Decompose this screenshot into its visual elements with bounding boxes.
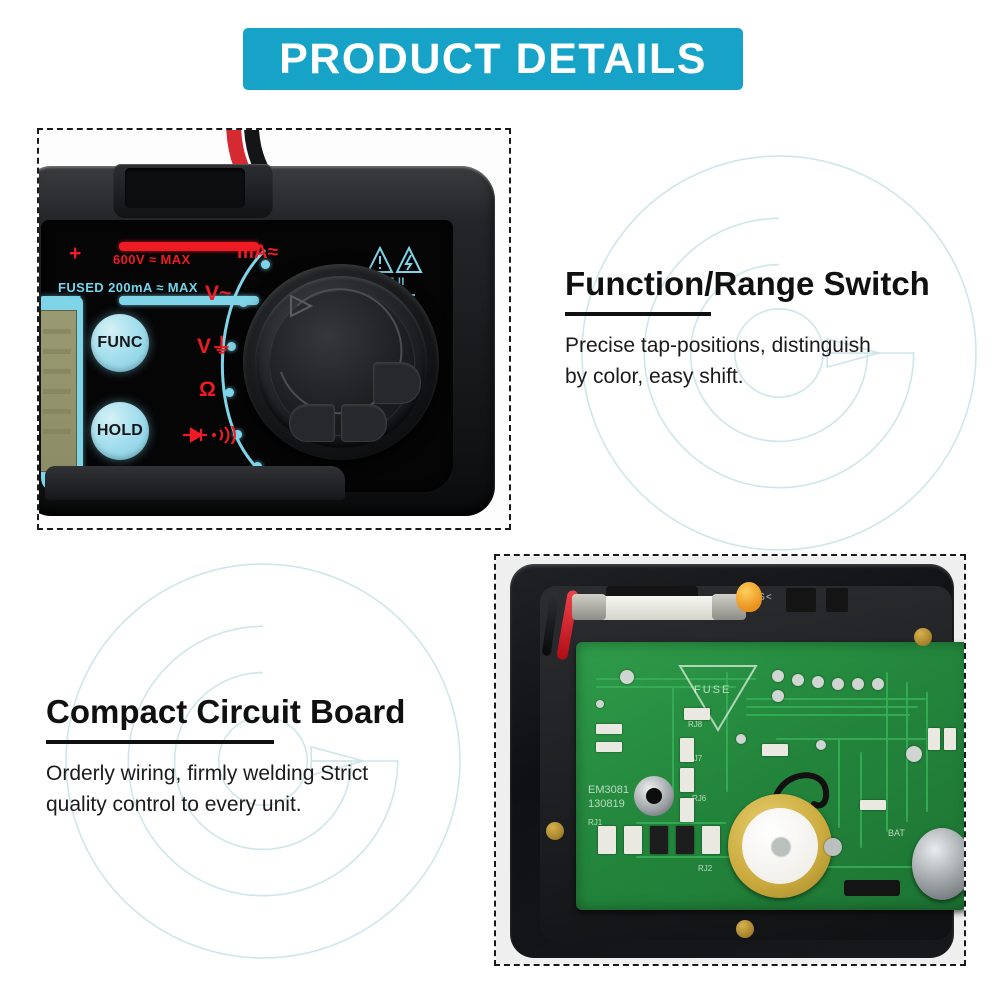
multimeter-photo-frame: + − 600V ≈ MAX FUSED 200mA ≈ MAX: [37, 128, 511, 530]
coin-cell-battery: [912, 828, 966, 900]
dial-grip-pad: [289, 404, 335, 442]
dial-label-resistance: Ω: [199, 378, 216, 402]
fuse-cap: [572, 594, 606, 620]
dial-grip-pad: [341, 404, 387, 442]
lcd-display: [41, 310, 77, 472]
title-underline: [46, 740, 274, 744]
product-details-page: PRODUCT DETAILS: [0, 0, 1000, 1000]
ceramic-capacitor: [736, 582, 762, 612]
title-underline: [565, 312, 711, 316]
function-range-dial[interactable]: [243, 264, 439, 460]
connector-block: [844, 880, 900, 896]
case-screw: [546, 822, 564, 840]
voltage-rating-label: 600V ≈ MAX: [113, 252, 191, 267]
page-title: PRODUCT DETAILS: [279, 38, 707, 81]
multimeter-bottom-lip: [45, 466, 345, 500]
compact-circuit-board-text-block: Compact Circuit Board Orderly wiring, fi…: [46, 693, 446, 821]
printed-circuit-board: FUSE EM3081 130819 RJ1 RJ8 RJ7 RJ6 RJ2: [576, 642, 966, 910]
transistor: [826, 588, 848, 612]
transistor: [786, 588, 816, 612]
case-screw: [736, 920, 754, 938]
hold-button[interactable]: HOLD: [91, 402, 149, 460]
section-body: Precise tap-positions, distinguish by co…: [565, 330, 965, 393]
case-interior: >ABS<: [540, 586, 952, 940]
silkscreen-datecode: 130819: [588, 798, 625, 810]
positive-terminal-label: +: [69, 242, 81, 266]
rotary-contact-hub: [634, 776, 674, 816]
multimeter-body: + − 600V ≈ MAX FUSED 200mA ≈ MAX: [37, 166, 495, 516]
case-screw: [914, 628, 932, 646]
silkscreen-rj6: RJ6: [692, 794, 706, 803]
multimeter-top-housing: [113, 164, 273, 218]
function-range-switch-text-block: Function/Range Switch Precise tap-positi…: [565, 265, 965, 393]
current-rating-label: FUSED 200mA ≈ MAX: [58, 280, 198, 295]
dial-label-milliamp: mA≈: [237, 242, 278, 264]
silkscreen-rj8: RJ8: [688, 720, 702, 729]
dial-label-ac-voltage: V~: [205, 282, 231, 306]
black-wire: [542, 592, 560, 657]
dial-grip-pad: [373, 362, 421, 404]
section-title: Compact Circuit Board: [46, 693, 446, 731]
silkscreen-rj2: RJ2: [698, 864, 712, 873]
multimeter-front-panel: + − 600V ≈ MAX FUSED 200mA ≈ MAX: [41, 220, 453, 492]
lcd-display-bezel: [41, 296, 83, 492]
dial-label-dc-voltage: V⏚: [197, 330, 232, 360]
circuit-board-photo: >ABS<: [496, 556, 964, 964]
func-button[interactable]: FUNC: [91, 314, 149, 372]
silkscreen-model: EM3081: [588, 784, 629, 796]
dial-label-diode-continuity-icon: [181, 426, 237, 444]
silkscreen-fuse: FUSE: [694, 684, 731, 696]
section-title: Function/Range Switch: [565, 265, 965, 303]
multimeter-photo: + − 600V ≈ MAX FUSED 200mA ≈ MAX: [39, 130, 509, 528]
dial-tick-dot: [239, 298, 248, 307]
multimeter-case-shell: >ABS<: [510, 564, 954, 958]
silkscreen-bat: BAT: [888, 828, 905, 838]
circuit-board-photo-frame: >ABS<: [494, 554, 966, 966]
section-body: Orderly wiring, firmly welding Strict qu…: [46, 758, 446, 821]
dial-tick-dot: [225, 388, 234, 397]
page-title-banner: PRODUCT DETAILS: [243, 28, 743, 90]
